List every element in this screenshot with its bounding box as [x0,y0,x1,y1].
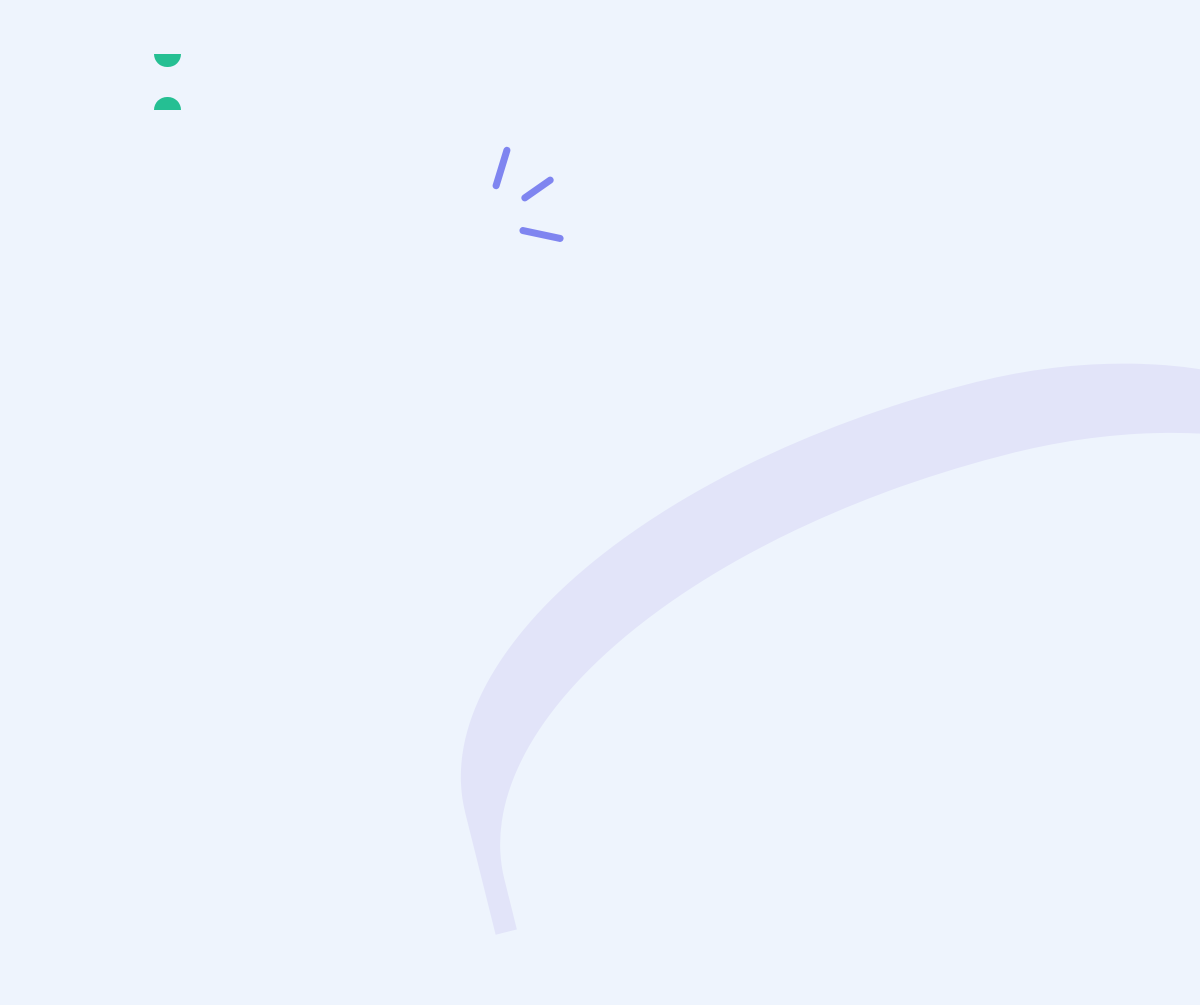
arc-bottom-icon [154,97,181,110]
sparkle-stroke-3 [519,226,564,242]
sparkle-stroke-1 [492,146,512,190]
arc-top-icon [154,54,181,67]
bingo-card-stack [560,0,1200,628]
sparkle-stroke-2 [520,175,555,203]
